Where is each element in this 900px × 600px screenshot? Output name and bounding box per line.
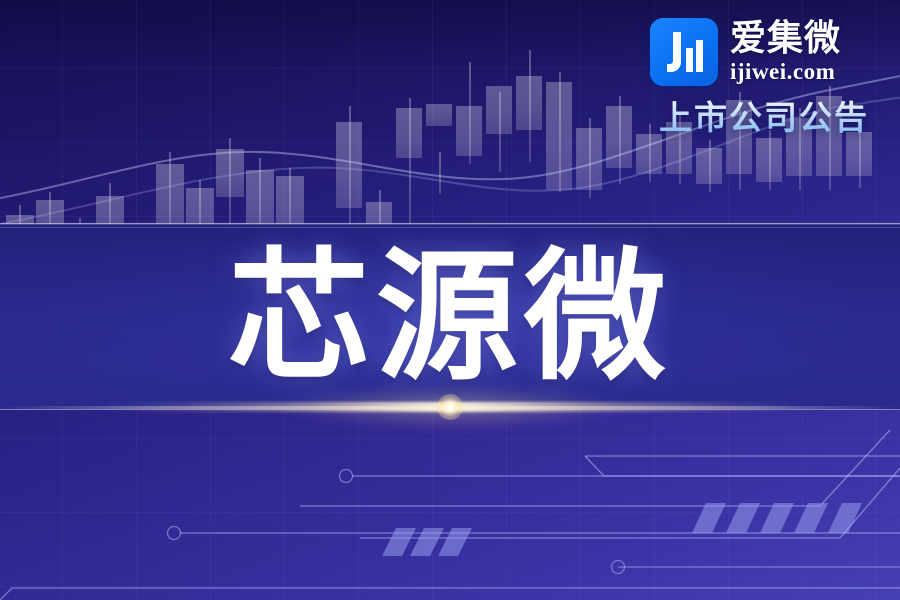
brand-row: 爱集微 ijiwei.com bbox=[650, 16, 878, 88]
brand-url: ijiwei.com bbox=[730, 59, 878, 84]
brand-subtitle: 上市公司公告 bbox=[650, 100, 878, 136]
ijiwei-bars-logo-icon bbox=[650, 18, 718, 86]
announcement-banner: 芯源微 bbox=[0, 0, 900, 600]
brand-block: 爱集微 ijiwei.com 上市公司公告 bbox=[650, 16, 878, 136]
circuit-trace-watermark bbox=[0, 410, 900, 600]
band-divider-top bbox=[0, 223, 900, 224]
brand-wordmark: 爱集微 ijiwei.com bbox=[730, 20, 878, 84]
brand-name-cn: 爱集微 bbox=[730, 20, 878, 58]
band-divider-top-secondary bbox=[0, 227, 900, 228]
